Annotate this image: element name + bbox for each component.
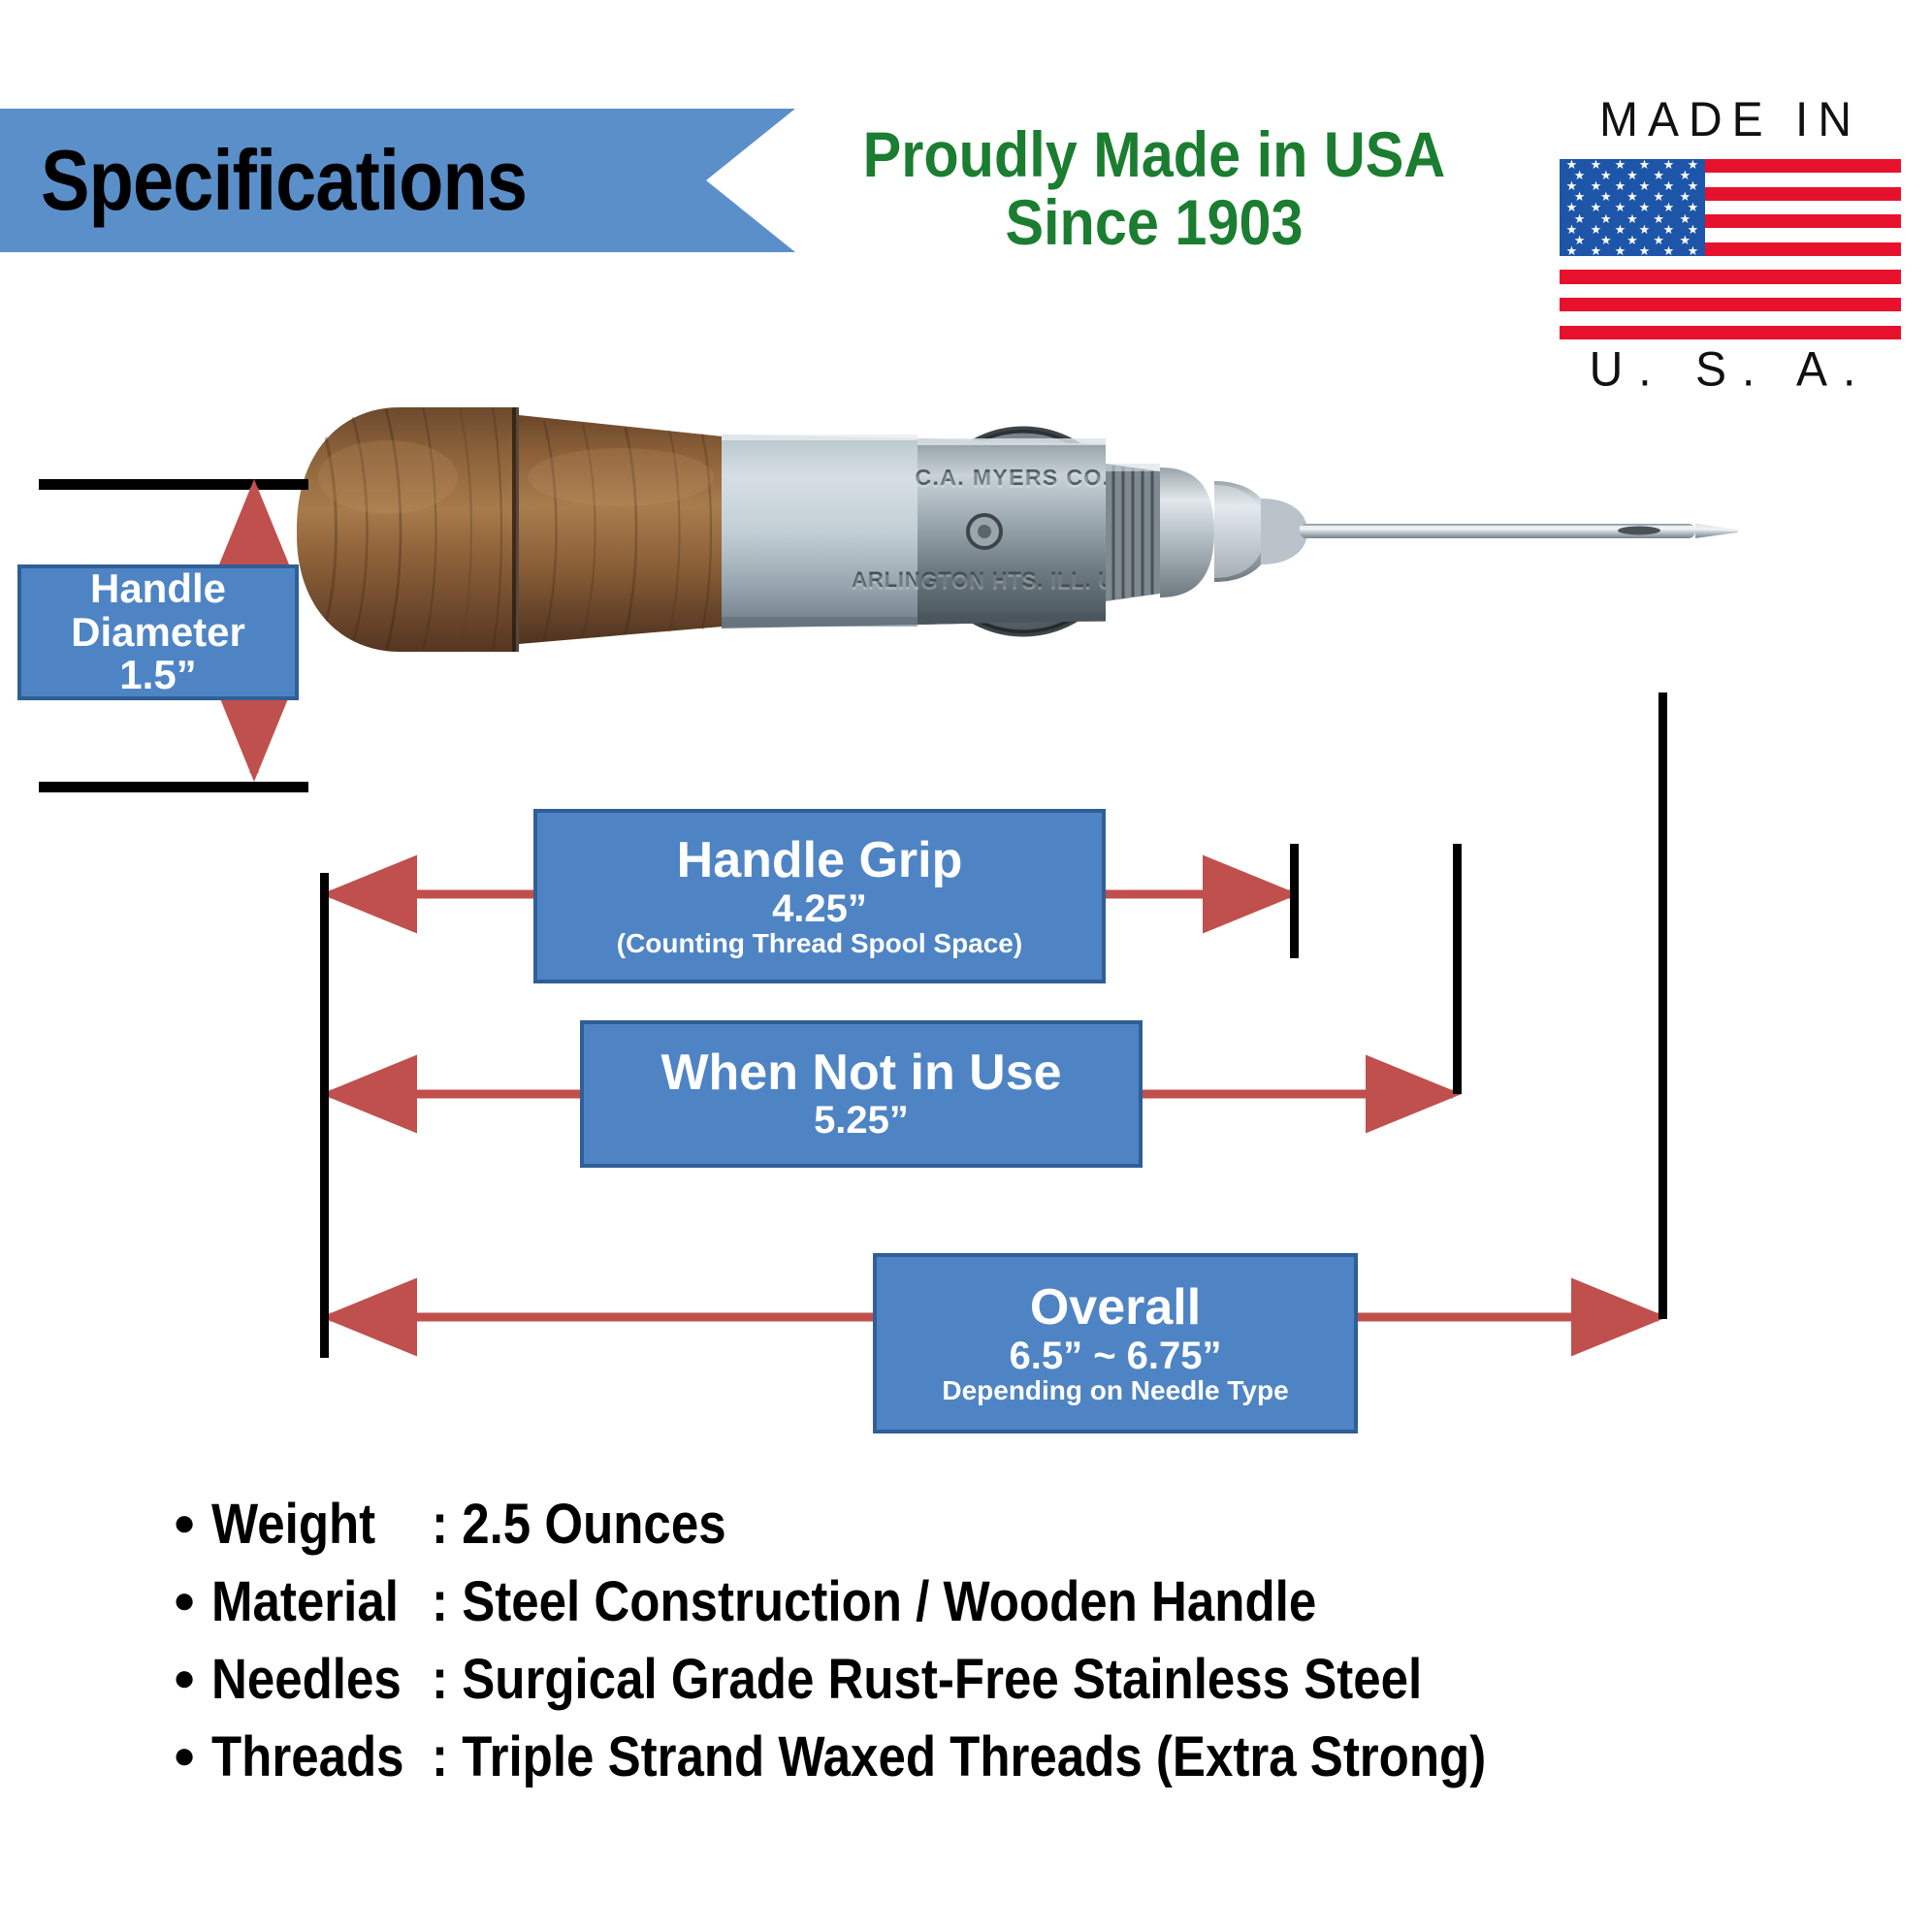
tool-address-emboss: ARLINGTON HTS. ILL. U.S.A. [852, 567, 1166, 592]
spec-row-needles: ● Needles: Surgical Grade Rust-Free Stai… [173, 1647, 1880, 1712]
page-title: Specifications [41, 131, 527, 230]
spec-line-threads: Threads: Triple Strand Waxed Threads (Ex… [211, 1724, 1486, 1789]
specification-infographic: Specifications Proudly Made in USA Since… [0, 0, 1932, 1932]
bullet-icon: ● [173, 1658, 196, 1697]
flag-made-in-label: MADE IN [1540, 96, 1920, 145]
svg-text:C.A. MYERS CO.: C.A. MYERS CO. [915, 467, 1110, 493]
specs-bullet-list: ● Weight: 2.5 Ounces ● Material: Steel C… [173, 1492, 1880, 1802]
not-in-use-title: When Not in Use [660, 1046, 1061, 1100]
spec-row-material: ● Material: Steel Construction / Wooden … [173, 1569, 1880, 1634]
svg-text:ARLINGTON HTS. ILL. U.S.A.: ARLINGTON HTS. ILL. U.S.A. [852, 570, 1166, 595]
flag-canton: ★★★★★★ ★★★★★ ★★★★★★ ★★★★★ ★★★★★★ ★★★★★ ★… [1560, 159, 1705, 256]
extension-tick-not-in-use-end [1453, 844, 1462, 1094]
bullet-icon: ● [173, 1581, 196, 1620]
extension-tick-handle-grip-end [1290, 844, 1299, 958]
tool-brand-emboss: C.A. MYERS CO. [915, 465, 1110, 490]
spec-line-needles: Needles: Surgical Grade Rust-Free Stainl… [211, 1647, 1422, 1712]
made-in-usa-flag-badge: MADE IN ★★★★★★ ★★★★★ ★★★★★★ ★★★★★ ★★★★★★… [1540, 97, 1920, 388]
handle-diameter-top-tick [39, 479, 308, 490]
overall-title: Overall [1030, 1281, 1201, 1335]
spec-key-needles: Needles [211, 1647, 432, 1712]
handle-diameter-value: 1.5” [119, 654, 196, 697]
slogan-line-2: Since 1903 [849, 189, 1460, 257]
spec-value-weight: 2.5 Ounces [462, 1493, 725, 1556]
extension-tick-overall-end [1658, 692, 1667, 1319]
usa-flag-icon: ★★★★★★ ★★★★★ ★★★★★★ ★★★★★ ★★★★★★ ★★★★★ ★… [1560, 159, 1901, 339]
handle-grip-note: (Counting Thread Spool Space) [617, 929, 1022, 958]
bullet-icon: ● [173, 1736, 196, 1775]
specifications-ribbon: Specifications [0, 109, 795, 252]
spec-row-threads: ● Threads: Triple Strand Waxed Threads (… [173, 1724, 1880, 1789]
bullet-icon: ● [173, 1503, 196, 1542]
label-handle-diameter: Handle Diameter 1.5” [17, 564, 299, 700]
spec-value-threads: Triple Strand Waxed Threads (Extra Stron… [462, 1725, 1486, 1788]
extension-tick-left-origin [320, 873, 329, 1358]
slogan-line-1: Proudly Made in USA [849, 121, 1460, 189]
handle-diameter-title-1: Handle [90, 567, 226, 611]
overall-note: Depending on Needle Type [942, 1376, 1288, 1405]
spec-row-weight: ● Weight: 2.5 Ounces [173, 1492, 1880, 1557]
spec-line-material: Material: Steel Construction / Wooden Ha… [211, 1569, 1316, 1634]
label-when-not-in-use: When Not in Use 5.25” [580, 1020, 1143, 1168]
not-in-use-value: 5.25” [814, 1100, 909, 1141]
label-overall: Overall 6.5” ~ 6.75” Depending on Needle… [873, 1253, 1358, 1433]
handle-grip-value: 4.25” [772, 888, 867, 929]
spec-sep-threads: : [432, 1725, 448, 1788]
spec-key-material: Material [211, 1569, 432, 1634]
label-handle-grip: Handle Grip 4.25” (Counting Thread Spool… [533, 809, 1106, 983]
spec-sep-weight: : [432, 1493, 448, 1556]
overall-value: 6.5” ~ 6.75” [1009, 1336, 1221, 1376]
spec-sep-material: : [432, 1570, 448, 1633]
spec-sep-needles: : [432, 1648, 448, 1711]
handle-diameter-bottom-tick [39, 782, 308, 792]
spec-value-needles: Surgical Grade Rust-Free Stainless Steel [462, 1648, 1422, 1711]
flag-usa-label: U. S. A. [1540, 346, 1920, 395]
spec-value-material: Steel Construction / Wooden Handle [462, 1570, 1316, 1633]
spec-key-weight: Weight [211, 1492, 432, 1557]
spec-key-threads: Threads [211, 1724, 432, 1789]
handle-diameter-title-2: Diameter [71, 611, 245, 655]
made-in-usa-slogan: Proudly Made in USA Since 1903 [815, 121, 1494, 257]
handle-grip-title: Handle Grip [677, 834, 963, 887]
spec-line-weight: Weight: 2.5 Ounces [211, 1492, 726, 1557]
